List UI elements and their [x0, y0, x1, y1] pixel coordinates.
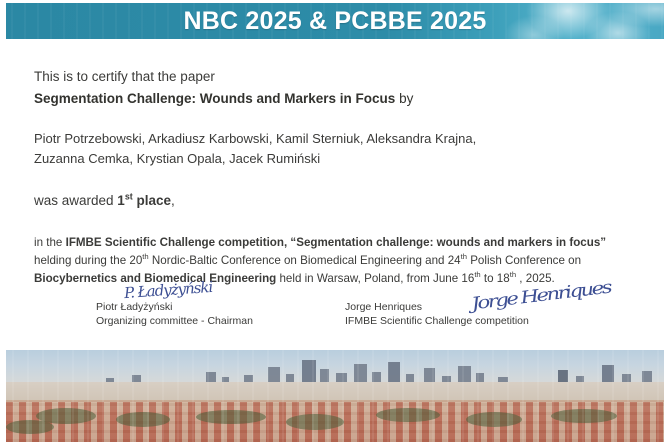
- award-line: was awarded 1st place,: [34, 191, 634, 211]
- details-line-2-prefix: helding during the 20: [34, 254, 142, 267]
- award-place-word: place: [133, 193, 171, 208]
- details-line-2-suffix: Polish Conference on: [467, 254, 581, 267]
- paper-title-line: Segmentation Challenge: Wounds and Marke…: [34, 88, 634, 110]
- award-prefix: was awarded: [34, 193, 117, 208]
- details-line-1: in the IFMBE Scientific Challenge compet…: [34, 234, 634, 252]
- details-line-1-prefix: in the: [34, 236, 66, 249]
- warsaw-panorama-photo: [6, 350, 664, 442]
- award-suffix: ,: [171, 193, 175, 208]
- award-place-ordinal: st: [125, 192, 133, 202]
- author-line-1: Piotr Potrzebowski, Arkadiusz Karbowski,…: [34, 129, 634, 149]
- conference-title: NBC 2025 & PCBBE 2025: [6, 4, 664, 38]
- photo-scanline-overlay: [6, 350, 664, 442]
- details-line-2-mid: Nordic-Baltic Conference on Biomedical E…: [149, 254, 461, 267]
- certificate-body: This is to certify that the paper Segmen…: [34, 66, 634, 288]
- author-list: Piotr Potrzebowski, Arkadiusz Karbowski,…: [34, 129, 634, 169]
- header-banner: NBC 2025 & PCBBE 2025: [6, 3, 664, 39]
- award-place-number: 1: [117, 193, 125, 208]
- signatory-name: Piotr Ładyżyński: [96, 300, 253, 314]
- certify-lead-text: This is to certify that the paper: [34, 66, 634, 87]
- signature-row: P. Ładyżyński Piotr Ładyżyński Organizin…: [34, 283, 634, 331]
- signatory-role: IFMBE Scientific Challenge competition: [345, 314, 529, 328]
- author-line-2: Zuzanna Cemka, Krystian Opala, Jacek Rum…: [34, 149, 634, 169]
- competition-details: in the IFMBE Scientific Challenge compet…: [34, 234, 634, 288]
- paper-title: Segmentation Challenge: Wounds and Marke…: [34, 91, 395, 106]
- signature-block-ifmbe: Jorge Henriques Jorge Henriques IFMBE Sc…: [345, 283, 529, 328]
- details-line-1-bold: IFMBE Scientific Challenge competition, …: [66, 236, 607, 249]
- details-line-2: helding during the 20th Nordic-Baltic Co…: [34, 252, 634, 270]
- paper-title-suffix: by: [395, 91, 413, 106]
- signature-block-chairman: P. Ładyżyński Piotr Ładyżyński Organizin…: [96, 283, 253, 328]
- signatory-name: Jorge Henriques: [345, 300, 529, 314]
- signatory-role: Organizing committee - Chairman: [96, 314, 253, 328]
